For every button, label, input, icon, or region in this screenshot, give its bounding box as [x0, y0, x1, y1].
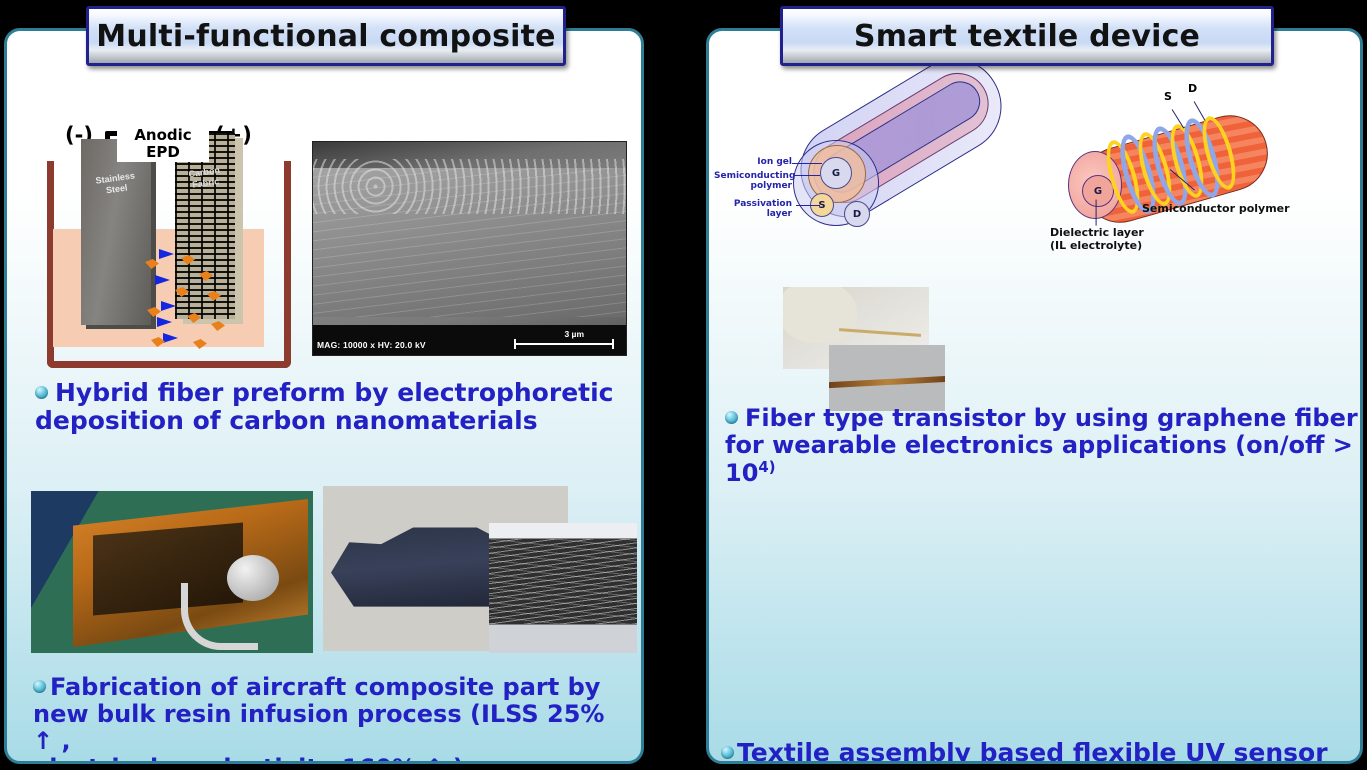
resin-infusion-photo: [31, 491, 313, 653]
migration-arrow: [161, 301, 176, 311]
right-caption-2-text: Textile assembly based flexible UV senso…: [737, 738, 1328, 764]
panel-smart-textile-device: G S D Ion gel Semiconducting polymer Pas…: [706, 28, 1363, 764]
sem-micrograph-cnt-fiber: MAG: 10000 x HV: 20.0 kV 3 µm: [312, 141, 627, 356]
title-plate-right[interactable]: Smart textile device: [780, 6, 1274, 66]
fiber-tow-texture: [489, 539, 637, 625]
glove: [783, 287, 857, 343]
migration-arrow: [155, 275, 170, 285]
sem-magnification-text: MAG: 10000 x HV: 20.0 kV: [317, 340, 426, 350]
migration-arrow: [159, 249, 174, 259]
bullet-icon: [721, 746, 734, 759]
title-right-label: Smart textile device: [854, 19, 1200, 54]
semiconductor-polymer-label: Semiconductor polymer: [1142, 203, 1290, 216]
bullet-icon: [35, 386, 48, 399]
ion-gel-leader: [792, 163, 822, 164]
left-caption-2-line1: Fabrication of aircraft composite part b…: [50, 673, 600, 701]
dielectric-layer-label: Dielectric layer (IL electrolyte): [1050, 227, 1144, 252]
epd-process-label: Anodic EPD: [117, 127, 209, 162]
epd-beaker: Stainless Steel Carbon Fabric: [47, 161, 277, 361]
fiber-strand-closeup: [829, 376, 945, 389]
title-plate-left[interactable]: Multi-functional composite: [86, 6, 566, 66]
drain-leader: [1193, 101, 1205, 121]
ion-gel-label: Ion gel: [738, 157, 792, 167]
fiber-transistor-schematic: G S D Ion gel Semiconducting polymer Pas…: [738, 95, 1028, 265]
right-caption-1-line3: 10: [725, 459, 758, 487]
gate-node: G: [1082, 175, 1114, 207]
left-caption-1-text: Hybrid fiber preform by electrophoretic …: [35, 378, 613, 435]
migration-arrow: [163, 333, 178, 343]
semiconducting-leader: [794, 175, 820, 176]
gate-node: G: [820, 157, 852, 189]
sem-scale-text: 3 µm: [564, 329, 584, 339]
title-left-label: Multi-functional composite: [96, 19, 555, 54]
coil-transistor-schematic: G S D Semiconductor polymer Dielectric l…: [1038, 91, 1338, 271]
drain-node: D: [844, 201, 870, 227]
slide-canvas: (-) (+) Anodic EPD Stainless Steel Carbo…: [0, 0, 1367, 770]
left-caption-2-line3: electrical conductivity 160% ↑ ): [33, 754, 464, 764]
right-caption-1-superscript: 4): [758, 458, 775, 476]
passivation-leader: [796, 205, 820, 206]
right-caption-1-line2: for wearable electronics applications (o…: [725, 431, 1353, 459]
right-caption-1-line1: Fiber type transistor by using graphene …: [745, 404, 1358, 432]
epd-diagram: (-) (+) Anodic EPD Stainless Steel Carbo…: [7, 31, 307, 371]
left-caption-2-line2: new bulk resin infusion process (ILSS 25…: [33, 700, 604, 755]
infusion-tube: [181, 583, 258, 650]
left-caption-2: Fabrication of aircraft composite part b…: [33, 674, 629, 764]
sem-nanotube-fuzz: [313, 159, 626, 214]
fiber-closeup-photo: [829, 345, 945, 411]
sem-scale-bar: [514, 343, 614, 345]
right-caption-1: Fiber type transistor by using graphene …: [725, 405, 1359, 487]
drain-label: D: [1188, 83, 1197, 96]
bullet-icon: [725, 411, 738, 424]
left-caption-1: Hybrid fiber preform by electrophoretic …: [35, 379, 615, 435]
passivation-layer-label: Passivation layer: [732, 199, 792, 220]
fiber-tow-closeup-photo: [489, 523, 637, 653]
panel-multi-functional-composite: (-) (+) Anodic EPD Stainless Steel Carbo…: [4, 28, 644, 764]
source-label: S: [1164, 91, 1172, 104]
semiconducting-polymer-label: Semiconducting polymer: [714, 171, 792, 192]
dielectric-leader: [1095, 200, 1096, 226]
bullet-icon: [33, 680, 46, 693]
migration-arrow: [157, 317, 172, 327]
stainless-steel-label: Stainless Steel: [80, 168, 152, 199]
stainless-steel-electrode: Stainless Steel: [81, 139, 151, 325]
right-caption-2: Textile assembly based flexible UV senso…: [721, 739, 1351, 764]
